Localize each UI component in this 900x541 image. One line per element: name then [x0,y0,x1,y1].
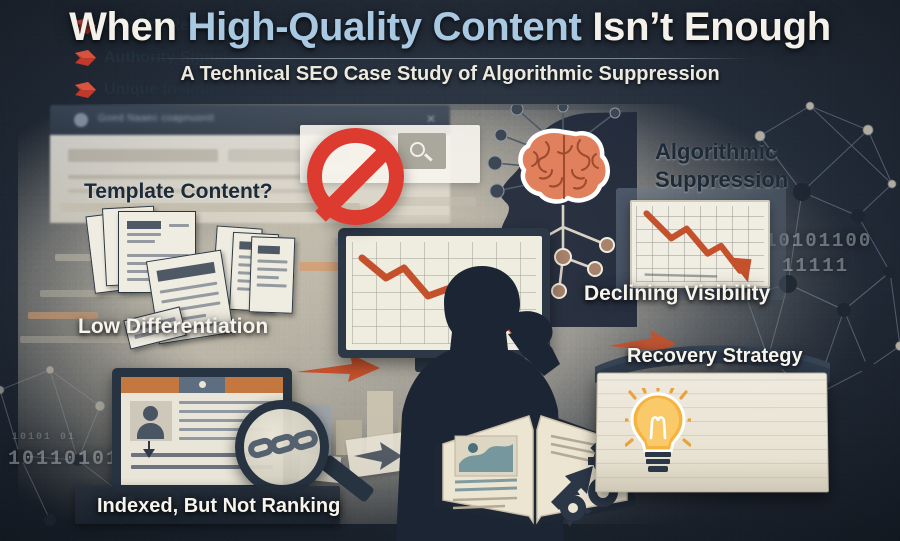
title-segment-3: Isn’t Enough [592,5,831,49]
serp-row-line [380,215,450,222]
search-icon [410,142,425,157]
declining-visibility-chart [630,200,770,288]
declining-trend-line [632,202,768,286]
label-algorithmic-suppression: Algorithmic Suppression [655,138,788,194]
title-segment-2: High-Quality Content [188,5,593,49]
avatar-head [143,406,158,421]
lightbulb-icon [625,388,691,474]
label-template-content: Template Content? [84,180,273,204]
brain-icon [518,128,610,206]
document-page [249,236,296,313]
close-icon: ✕ [426,112,436,126]
title-divider [148,58,752,59]
label-low-differentiation: Low Differentiation [78,315,268,339]
infographic-poster: Goed Naaec coapnuonit ✕ [0,0,900,541]
page-tab-dot [199,381,206,388]
page-subtitle: A Technical SEO Case Study of Algorithmi… [0,63,900,86]
label-declining-visibility: Declining Visibility [584,282,770,306]
label-algorithmic-line2: Suppression [655,166,788,194]
binary-text: 10110101 [8,448,120,471]
down-arrow-head-icon [143,449,155,458]
magnifying-glass-icon [235,400,329,494]
page-title: When High-Quality Content Isn’t Enough [0,5,900,50]
poster-header: When High-Quality Content Isn’t Enough A… [0,0,900,100]
label-indexed-not-ranking: Indexed, But Not Ranking [97,495,340,518]
chain-link-icon [290,428,320,452]
browser-favicon-icon [74,113,88,127]
browser-tab-label: Goed Naaec coapnuonit [98,113,214,124]
binary-text: 10101 01 [12,432,76,443]
document-stack-illustration [86,205,301,320]
title-segment-1: When [69,5,187,49]
label-recovery-strategy: Recovery Strategy [627,345,803,368]
label-algorithmic-line1: Algorithmic [655,138,788,166]
binary-text: 11111 [782,255,849,277]
